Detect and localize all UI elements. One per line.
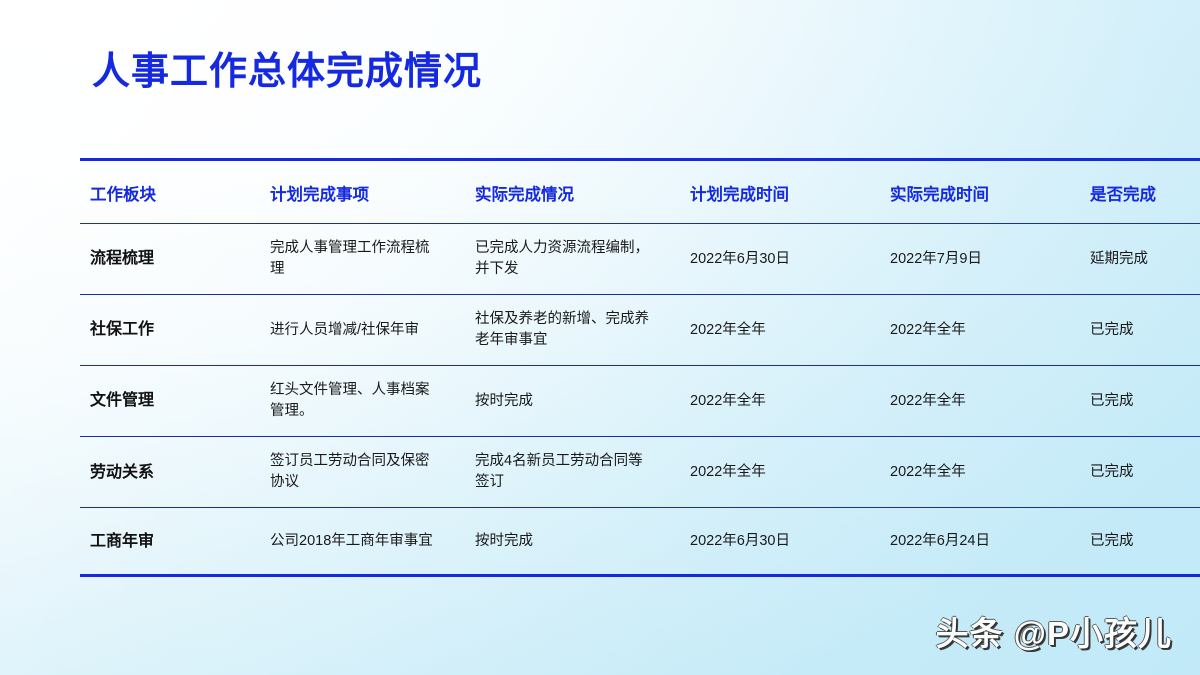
cell-planned: 红头文件管理、人事档案管理。 <box>260 366 465 437</box>
cell-plan-time: 2022年全年 <box>680 437 880 508</box>
cell-actual: 社保及养老的新增、完成养老年审事宜 <box>465 295 680 366</box>
cell-actual-text: 完成4名新员工劳动合同等签订 <box>475 451 655 493</box>
cell-actual-text: 已完成人力资源流程编制，并下发 <box>475 238 655 280</box>
completion-status-table: 工作板块 计划完成事项 实际完成情况 计划完成时间 实际完成时间 是否完成 流程… <box>80 158 1200 577</box>
cell-actual-time: 2022年全年 <box>880 437 1080 508</box>
table-header: 工作板块 计划完成事项 实际完成情况 计划完成时间 实际完成时间 是否完成 <box>80 160 1200 224</box>
cell-actual: 已完成人力资源流程编制，并下发 <box>465 224 680 295</box>
table-row: 劳动关系 签订员工劳动合同及保密协议 完成4名新员工劳动合同等签订 2022年全… <box>80 437 1200 508</box>
table-body: 流程梳理 完成人事管理工作流程梳理 已完成人力资源流程编制，并下发 2022年6… <box>80 224 1200 576</box>
cell-plan-time: 2022年全年 <box>680 295 880 366</box>
table-header-row: 工作板块 计划完成事项 实际完成情况 计划完成时间 实际完成时间 是否完成 <box>80 160 1200 224</box>
cell-actual-time: 2022年7月9日 <box>880 224 1080 295</box>
watermark: 头条 @P小孩儿 <box>936 607 1172 655</box>
slide-canvas: 人事工作总体完成情况 工作板块 计划完成事项 实际完成情况 计划完成时间 实际完… <box>0 0 1200 675</box>
completion-status-table-wrapper: 工作板块 计划完成事项 实际完成情况 计划完成时间 实际完成时间 是否完成 流程… <box>80 158 1138 577</box>
column-header-done: 是否完成 <box>1080 160 1200 224</box>
table-row: 工商年审 公司2018年工商年审事宜 按时完成 2022年6月30日 2022年… <box>80 508 1200 576</box>
cell-planned-text: 红头文件管理、人事档案管理。 <box>270 380 440 422</box>
cell-planned-text: 签订员工劳动合同及保密协议 <box>270 451 440 493</box>
cell-planned: 进行人员增减/社保年审 <box>260 295 465 366</box>
cell-planned: 签订员工劳动合同及保密协议 <box>260 437 465 508</box>
column-header-plan-time: 计划完成时间 <box>680 160 880 224</box>
cell-planned-text: 完成人事管理工作流程梳理 <box>270 238 440 280</box>
cell-done-status: 延期完成 <box>1080 224 1200 295</box>
cell-actual: 按时完成 <box>465 366 680 437</box>
cell-actual-time: 2022年6月24日 <box>880 508 1080 576</box>
cell-actual-text: 按时完成 <box>475 531 655 552</box>
cell-module: 文件管理 <box>80 366 260 437</box>
cell-actual-text: 按时完成 <box>475 391 655 412</box>
cell-planned-text: 公司2018年工商年审事宜 <box>270 531 440 552</box>
table-row: 文件管理 红头文件管理、人事档案管理。 按时完成 2022年全年 2022年全年… <box>80 366 1200 437</box>
table-row: 社保工作 进行人员增减/社保年审 社保及养老的新增、完成养老年审事宜 2022年… <box>80 295 1200 366</box>
column-header-actual-time: 实际完成时间 <box>880 160 1080 224</box>
column-header-module: 工作板块 <box>80 160 260 224</box>
cell-plan-time: 2022年6月30日 <box>680 224 880 295</box>
cell-actual: 按时完成 <box>465 508 680 576</box>
table-row: 流程梳理 完成人事管理工作流程梳理 已完成人力资源流程编制，并下发 2022年6… <box>80 224 1200 295</box>
cell-done-status: 已完成 <box>1080 366 1200 437</box>
cell-planned: 公司2018年工商年审事宜 <box>260 508 465 576</box>
cell-actual: 完成4名新员工劳动合同等签订 <box>465 437 680 508</box>
cell-module: 流程梳理 <box>80 224 260 295</box>
column-header-planned: 计划完成事项 <box>260 160 465 224</box>
cell-actual-text: 社保及养老的新增、完成养老年审事宜 <box>475 309 655 351</box>
cell-plan-time: 2022年6月30日 <box>680 508 880 576</box>
column-header-actual: 实际完成情况 <box>465 160 680 224</box>
cell-planned: 完成人事管理工作流程梳理 <box>260 224 465 295</box>
cell-done-status: 已完成 <box>1080 295 1200 366</box>
cell-planned-text: 进行人员增减/社保年审 <box>270 320 440 341</box>
cell-done-status: 已完成 <box>1080 437 1200 508</box>
cell-actual-time: 2022年全年 <box>880 366 1080 437</box>
page-title: 人事工作总体完成情况 <box>92 52 482 94</box>
cell-plan-time: 2022年全年 <box>680 366 880 437</box>
cell-module: 社保工作 <box>80 295 260 366</box>
cell-done-status: 已完成 <box>1080 508 1200 576</box>
cell-module: 工商年审 <box>80 508 260 576</box>
cell-actual-time: 2022年全年 <box>880 295 1080 366</box>
cell-module: 劳动关系 <box>80 437 260 508</box>
